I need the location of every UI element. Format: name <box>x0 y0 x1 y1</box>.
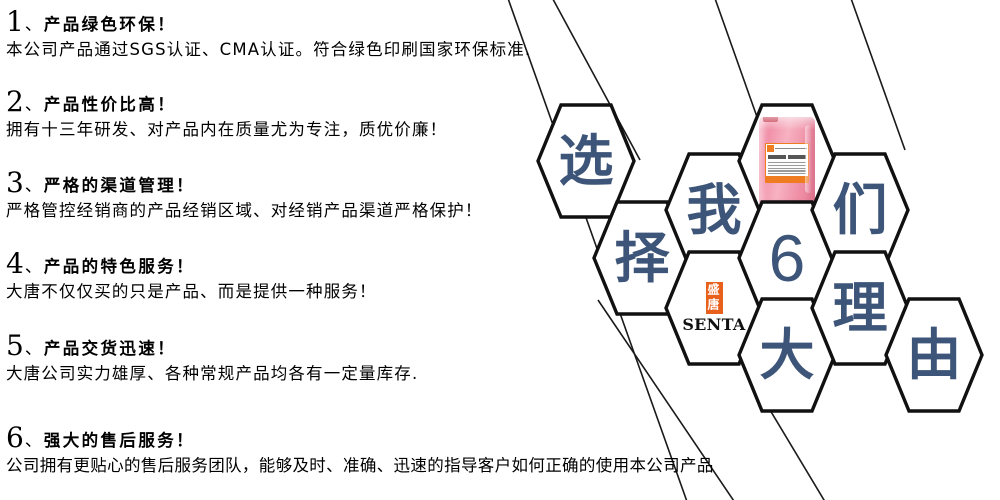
feature-heading: 3 、 严格的渠道管理！ <box>6 169 666 197</box>
label-header <box>766 144 808 153</box>
feature-separator: 、 <box>25 97 42 114</box>
feature-item-1: 1 、 产品绿色环保！ 本公司产品通过SGS认证、CMA认证。符合绿色印刷国家环… <box>6 8 666 60</box>
feature-title: 产品绿色环保！ <box>44 17 176 34</box>
hex-label: 由 <box>884 297 984 413</box>
feature-title: 严格的渠道管理！ <box>44 178 195 195</box>
feature-number: 2 <box>6 88 24 116</box>
brand-mark-char-bottom: 唐 <box>708 299 720 313</box>
feature-separator: 、 <box>25 17 42 34</box>
feature-heading: 2 、 产品性价比高！ <box>6 88 666 116</box>
label-text-line <box>768 162 806 163</box>
feature-heading: 1 、 产品绿色环保！ <box>6 8 666 36</box>
feature-number: 4 <box>6 250 24 278</box>
feature-title: 产品的特色服务！ <box>44 259 195 276</box>
feature-item-3: 3 、 严格的渠道管理！ 严格管控经销商的产品经销区域、对经销产品渠道严格保护！ <box>6 169 666 221</box>
promo-poster: 1 、 产品绿色环保！ 本公司产品通过SGS认证、CMA认证。符合绿色印刷国家环… <box>0 0 1000 500</box>
feature-number: 5 <box>6 332 24 360</box>
feature-item-2: 2 、 产品性价比高！ 拥有十三年研发、对产品内在质量尤为专注，质优价廉！ <box>6 88 666 140</box>
label-code-block <box>768 155 786 159</box>
feature-heading: 4 、 产品的特色服务！ <box>6 250 666 278</box>
label-logo-square <box>767 145 774 152</box>
label-text-line <box>768 168 806 169</box>
label-code-block <box>788 155 806 159</box>
feature-title: 产品性价比高！ <box>44 97 176 114</box>
feature-separator: 、 <box>25 341 42 358</box>
feature-title: 产品交货迅速！ <box>44 341 176 358</box>
feature-description: 拥有十三年研发、对产品内在质量尤为专注，质优价廉！ <box>6 121 666 140</box>
feature-number: 6 <box>6 424 24 452</box>
hex-cell-you[interactable]: 由 <box>884 297 984 413</box>
feature-number: 1 <box>6 8 24 36</box>
feature-description: 严格管控经销商的产品经销区域、对经销产品渠道严格保护！ <box>6 202 666 221</box>
feature-heading: 5 、 产品交货迅速！ <box>6 332 666 360</box>
feature-description: 大唐公司实力雄厚、各种常规产品均各有一定量库存. <box>6 365 666 384</box>
brand-mark-char-top: 盛 <box>708 284 720 298</box>
feature-description: 大唐不仅仅买的只是产品、而是提供一种服务！ <box>6 283 666 302</box>
label-footer-band <box>766 176 808 182</box>
jerrycan-body <box>759 117 815 205</box>
label-code-row <box>766 153 808 161</box>
feature-item-4: 4 、 产品的特色服务！ 大唐不仅仅买的只是产品、而是提供一种服务！ <box>6 250 666 302</box>
feature-separator: 、 <box>25 259 42 276</box>
label-text-lines <box>766 161 808 174</box>
feature-separator: 、 <box>25 178 42 195</box>
label-text-line <box>768 165 806 166</box>
feature-number: 3 <box>6 169 24 197</box>
feature-heading: 6 、 强大的售后服务！ <box>6 424 1000 452</box>
jerrycan-label <box>765 143 809 183</box>
label-text-line <box>768 173 806 174</box>
feature-separator: 、 <box>25 433 42 450</box>
label-text-line <box>768 170 806 171</box>
feature-description: 本公司产品通过SGS认证、CMA认证。符合绿色印刷国家环保标准. <box>6 41 666 60</box>
label-title-bar <box>775 148 807 150</box>
feature-description: 公司拥有更贴心的售后服务团队，能够及时、准确、迅速的指导客户如何正确的使用本公司… <box>6 457 1000 476</box>
brand-logo-mark: 盛 唐 <box>706 282 723 314</box>
feature-title: 强大的售后服务！ <box>44 433 195 450</box>
feature-list: 1 、 产品绿色环保！ 本公司产品通过SGS认证、CMA认证。符合绿色印刷国家环… <box>6 0 666 500</box>
feature-item-6: 6 、 强大的售后服务！ 公司拥有更贴心的售后服务团队，能够及时、准确、迅速的指… <box>6 424 1000 476</box>
feature-item-5: 5 、 产品交货迅速！ 大唐公司实力雄厚、各种常规产品均各有一定量库存. <box>6 332 666 384</box>
